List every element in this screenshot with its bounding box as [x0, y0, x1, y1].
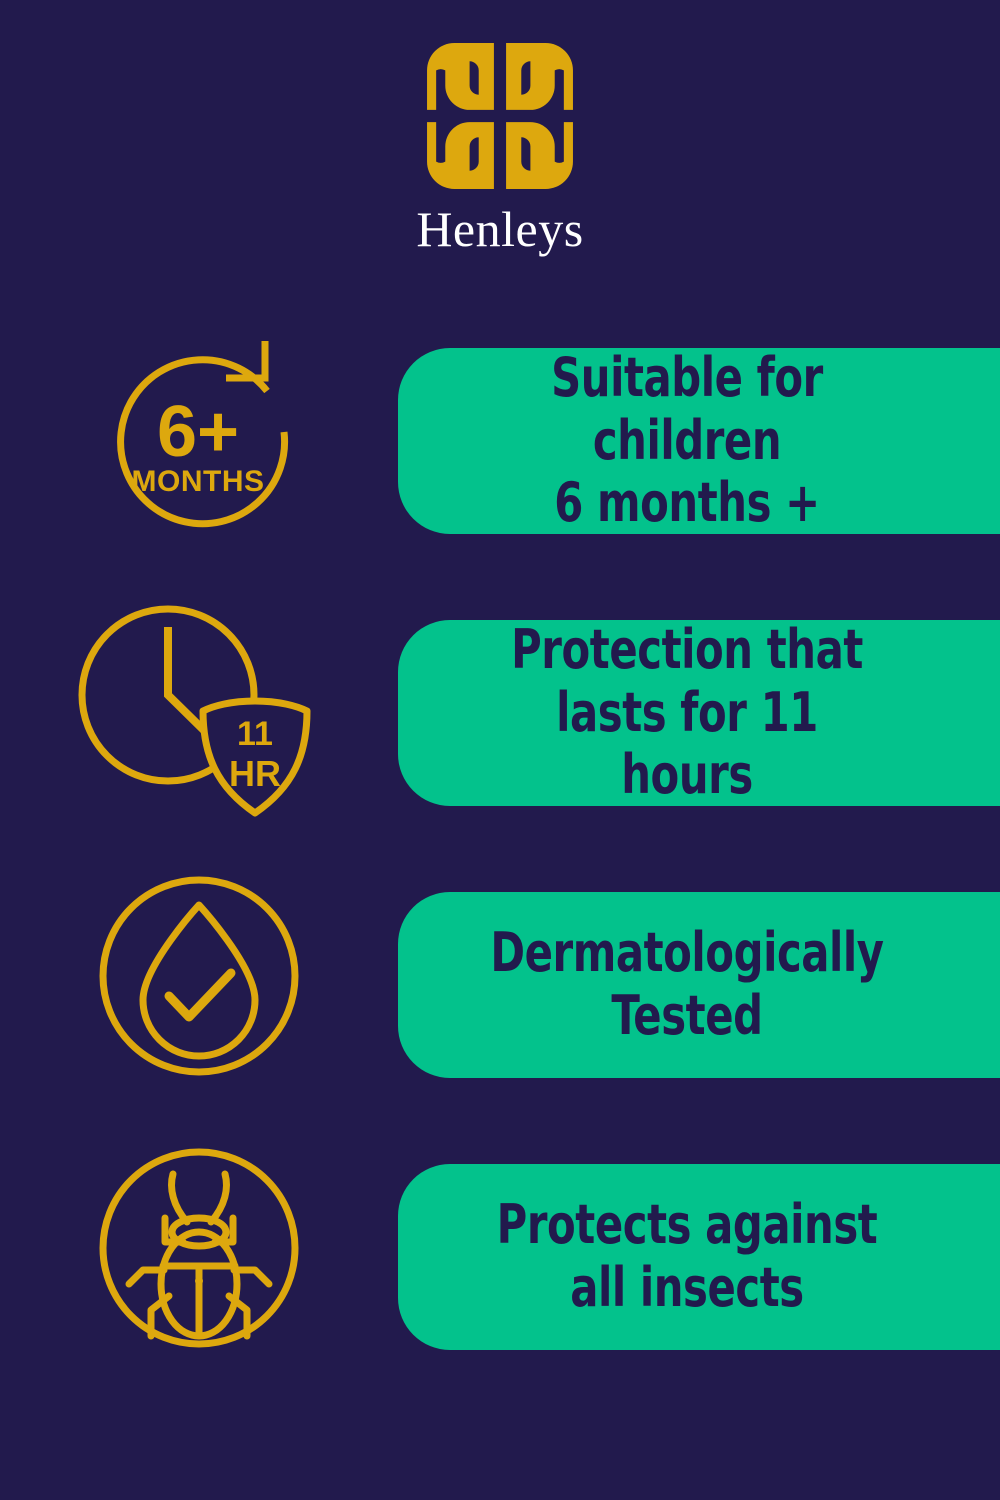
feature-pill: Protection that lasts for 11 hours [398, 620, 1000, 806]
feature-row: Dermatologically Tested [0, 862, 1000, 1134]
feature-list: 6+ MONTHS Suitable for children 6 months… [0, 318, 1000, 1406]
checkmark-shape [169, 973, 231, 1017]
icon-primary-label: 11 [237, 715, 273, 753]
brand-name: Henleys [416, 204, 583, 254]
droplet-with-checkmark-icon [88, 862, 312, 1092]
feature-text: Suitable for children 6 months + [488, 347, 885, 535]
henleys-knot-monogram-icon [424, 40, 576, 192]
clock-with-11-hour-shield-icon: 11 HR [88, 590, 312, 820]
body-dot [195, 1277, 203, 1285]
feature-pill: Suitable for children 6 months + [398, 348, 1000, 534]
brand-header: Henleys [0, 40, 1000, 254]
droplet-shape [143, 905, 255, 1056]
feature-row: 11 HR Protection that lasts for 11 hours [0, 590, 1000, 862]
feature-text: Dermatologically Tested [488, 922, 885, 1047]
antenna-left [172, 1174, 187, 1222]
antenna-right [211, 1174, 226, 1222]
infographic-page: Henleys 6+ MONTHS [0, 0, 1000, 1500]
feature-pill: Dermatologically Tested [398, 892, 1000, 1078]
icon-primary-label: 6+ [157, 392, 239, 472]
feature-pill: Protects against all insects [398, 1164, 1000, 1350]
feature-row: Protects against all insects [0, 1134, 1000, 1406]
six-plus-months-circular-arrow-icon: 6+ MONTHS [88, 318, 312, 548]
feature-text: Protection that lasts for 11 hours [488, 619, 885, 807]
icon-secondary-label: HR [229, 753, 281, 794]
feature-row: 6+ MONTHS Suitable for children 6 months… [0, 318, 1000, 590]
feature-text: Protects against all insects [488, 1194, 885, 1319]
beetle-insect-in-circle-icon [88, 1134, 312, 1364]
icon-secondary-label: MONTHS [132, 465, 265, 498]
